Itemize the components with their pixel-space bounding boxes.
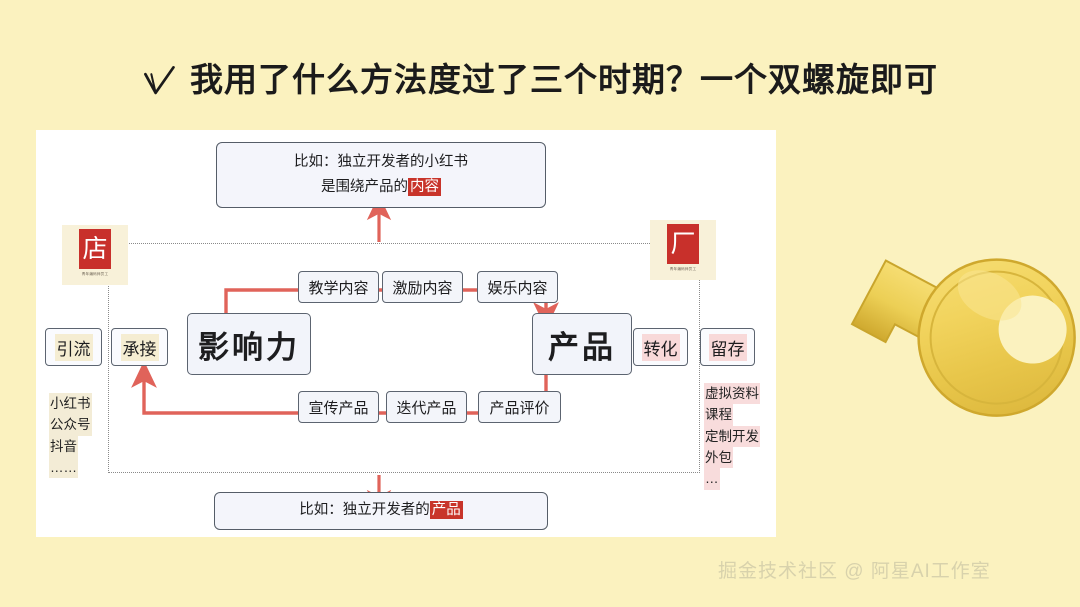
badge-store: 店 青年编码师员工 bbox=[62, 225, 128, 285]
badge-factory-glyph: 厂 bbox=[667, 224, 699, 264]
chain-box-top-1: 教学内容 bbox=[298, 271, 379, 303]
hub-node-product: 产品 bbox=[532, 313, 632, 375]
channel-list-item: 公众号 bbox=[49, 414, 92, 435]
top-callout-line2: 是围绕产品的内容 bbox=[321, 175, 441, 200]
badge-factory: 厂 青年编码师员工 bbox=[650, 220, 716, 280]
title-text: 我用了什么方法度过了三个时期？一个双螺旋即可 bbox=[190, 63, 938, 96]
channel-list-item: 抖音 bbox=[49, 436, 78, 457]
watermark: 掘金技术社区 @ 阿星AI工作室 bbox=[718, 556, 991, 583]
offering-list-item: 课程 bbox=[704, 404, 733, 425]
stage-box-undertake: 承接 bbox=[111, 328, 168, 366]
badge-store-glyph: 店 bbox=[79, 229, 111, 269]
page-title: 我用了什么方法度过了三个时期？一个双螺旋即可 bbox=[0, 52, 1080, 106]
bottom-callout-prefix: 比如：独立开发者的 bbox=[299, 502, 430, 518]
diagram-canvas: 比如：独立开发者的小红书 是围绕产品的内容 店 青年编码师员工 厂 青年编码师员… bbox=[36, 130, 776, 537]
stage-box-convert-label: 转化 bbox=[642, 334, 680, 361]
stage-box-traffic-label: 引流 bbox=[55, 334, 93, 361]
top-callout-line2-prefix: 是围绕产品的 bbox=[321, 179, 408, 195]
bottom-callout-highlight: 产品 bbox=[430, 501, 463, 519]
hub-node-influence: 影响力 bbox=[187, 313, 311, 375]
offering-list-item: 外包 bbox=[704, 447, 733, 468]
chain-box-bottom-2: 迭代产品 bbox=[386, 391, 467, 423]
channel-list-item: 小红书 bbox=[49, 393, 92, 414]
chain-box-bottom-3: 产品评价 bbox=[478, 391, 561, 423]
offering-list-item: … bbox=[704, 468, 720, 489]
stage-box-convert: 转化 bbox=[633, 328, 688, 366]
offering-list: 虚拟资料 课程 定制开发 外包 … bbox=[704, 383, 760, 490]
check-mark-icon bbox=[142, 64, 176, 98]
slide-root: 我用了什么方法度过了三个时期？一个双螺旋即可 bbox=[0, 0, 1080, 607]
badge-factory-caption: 青年编码师员工 bbox=[653, 266, 712, 271]
top-callout-highlight: 内容 bbox=[408, 178, 441, 196]
bottom-callout-line1: 比如：独立开发者的产品 bbox=[299, 498, 463, 523]
chain-box-bottom-1: 宣传产品 bbox=[298, 391, 379, 423]
stage-box-retain-label: 留存 bbox=[709, 334, 747, 361]
stage-box-traffic: 引流 bbox=[45, 328, 102, 366]
golden-key-icon bbox=[806, 196, 1080, 536]
stage-box-undertake-label: 承接 bbox=[121, 334, 159, 361]
offering-list-item: 定制开发 bbox=[704, 426, 760, 447]
chain-box-top-2: 激励内容 bbox=[382, 271, 463, 303]
top-example-callout: 比如：独立开发者的小红书 是围绕产品的内容 bbox=[216, 142, 546, 208]
chain-box-top-3: 娱乐内容 bbox=[477, 271, 558, 303]
channel-list: 小红书 公众号 抖音 …… bbox=[49, 393, 92, 478]
bottom-example-callout: 比如：独立开发者的产品 bbox=[214, 492, 548, 530]
channel-list-item: …… bbox=[49, 457, 78, 478]
top-callout-line1: 比如：独立开发者的小红书 bbox=[294, 150, 468, 175]
stage-box-retain: 留存 bbox=[700, 328, 755, 366]
offering-list-item: 虚拟资料 bbox=[704, 383, 760, 404]
badge-store-caption: 青年编码师员工 bbox=[65, 271, 124, 276]
